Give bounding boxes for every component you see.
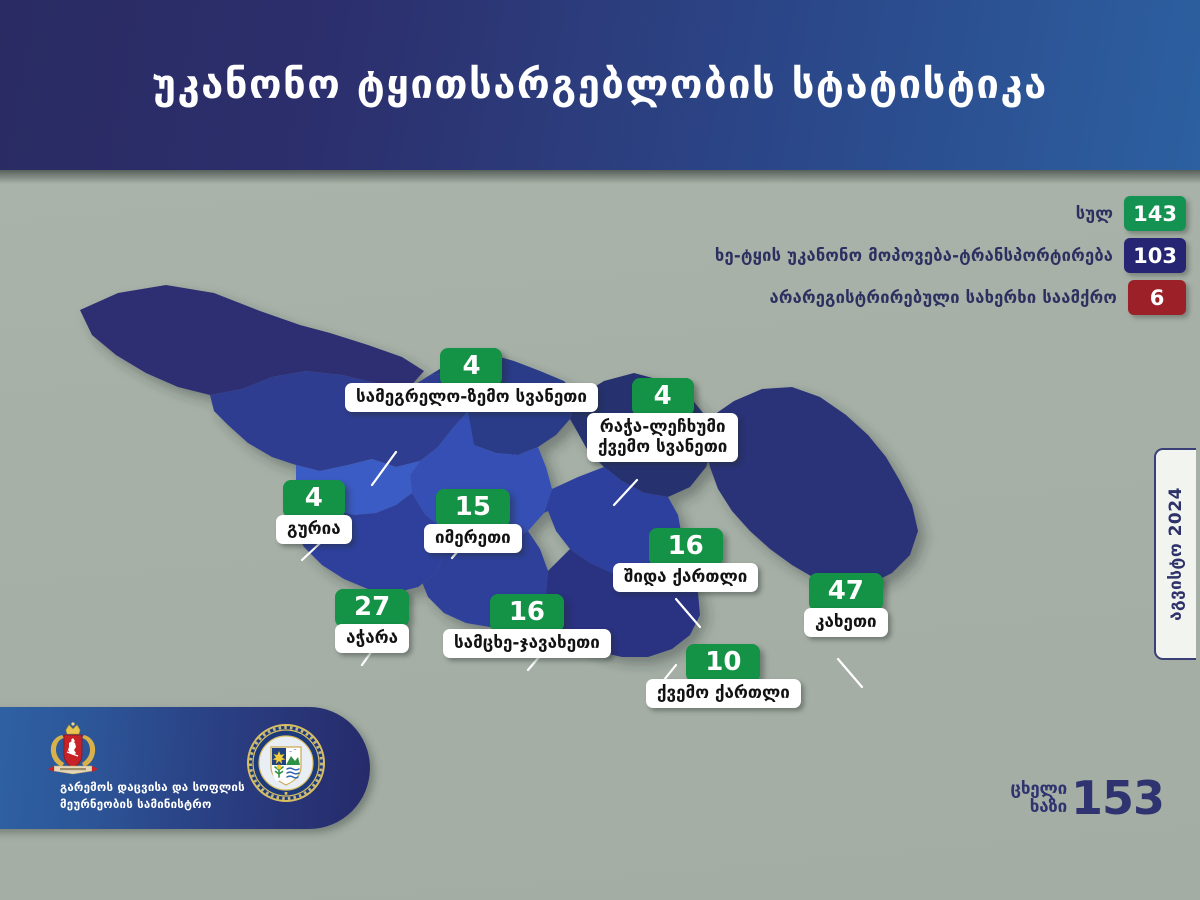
marker-guria[interactable]: 4 გურია [276, 480, 352, 544]
legend-label-unregistered-sawmill: არარეგისტრირებული სახერხი საამქრო [770, 288, 1117, 307]
leader-kakheti [838, 659, 862, 687]
header-banner: უკანონო ტყითსარგებლობის სტატისტიკა [0, 0, 1200, 170]
marker-count-samegrelo: 4 [440, 348, 502, 386]
marker-count-kvemo-kartli: 10 [686, 644, 760, 682]
marker-count-guria: 4 [283, 480, 345, 518]
legend-row-illegal-logging: ხე-ტყის უკანონო მოპოვება-ტრანსპორტირება … [715, 238, 1186, 273]
legend-badge-unregistered-sawmill: 6 [1128, 280, 1186, 315]
marker-label-imereti: იმერეთი [424, 524, 522, 553]
legend-badge-total: 143 [1124, 196, 1186, 231]
marker-samegrelo-zemo-svaneti[interactable]: 4 სამეგრელო-ზემო სვანეთი [345, 348, 598, 412]
marker-label-kakheti: კახეთი [804, 608, 888, 637]
marker-kakheti[interactable]: 47 კახეთი [804, 573, 888, 637]
hotline-number: 153 [1071, 778, 1164, 819]
legend-row-unregistered-sawmill: არარეგისტრირებული სახერხი საამქრო 6 [770, 280, 1186, 315]
marker-label-adjara: აჭარა [335, 624, 409, 653]
date-tab-label: აგვისტო 2024 [1166, 487, 1186, 621]
marker-count-shida-kartli: 16 [649, 528, 723, 566]
legend-label-illegal-logging: ხე-ტყის უკანონო მოპოვება-ტრანსპორტირება [715, 246, 1113, 265]
marker-adjara[interactable]: 27 აჭარა [335, 589, 409, 653]
marker-shida-kartli[interactable]: 16 შიდა ქართლი [613, 528, 758, 592]
georgia-coat-of-arms-icon [42, 722, 104, 780]
hotline-label: ცხელი ხაზი [1010, 781, 1067, 817]
marker-label-kvemo-kartli: ქვემო ქართლი [646, 679, 801, 708]
marker-count-kakheti: 47 [809, 573, 883, 611]
marker-label-samegrelo: სამეგრელო-ზემო სვანეთი [345, 383, 598, 412]
marker-count-samtskhe: 16 [490, 594, 564, 632]
marker-label-guria: გურია [276, 515, 352, 544]
marker-count-racha: 4 [632, 378, 694, 416]
marker-imereti[interactable]: 15 იმერეთი [424, 489, 522, 553]
marker-count-imereti: 15 [436, 489, 510, 527]
marker-count-adjara: 27 [335, 589, 409, 627]
page-title: უკანონო ტყითსარგებლობის სტატისტიკა [152, 62, 1048, 108]
legend-label-total: სულ [1076, 204, 1113, 223]
marker-racha-lechkhumi[interactable]: 4 რაჭა-ლეჩხუმი ქვემო სვანეთი [587, 378, 738, 462]
marker-label-samtskhe: სამცხე-ჯავახეთი [443, 629, 611, 658]
infographic-canvas: უკანონო ტყითსარგებლობის სტატისტიკა სულ 1… [0, 0, 1200, 900]
marker-samtskhe-javakheti[interactable]: 16 სამცხე-ჯავახეთი [443, 594, 611, 658]
ministry-seal-icon [246, 723, 326, 807]
marker-label-racha: რაჭა-ლეჩხუმი ქვემო სვანეთი [587, 413, 738, 462]
ministry-name: გარემოს დაცვისა და სოფლის მეურნეობის სამ… [60, 779, 245, 812]
legend-badge-illegal-logging: 103 [1124, 238, 1186, 273]
hotline: ცხელი ხაზი 153 [1010, 778, 1164, 819]
marker-kvemo-kartli[interactable]: 10 ქვემო ქართლი [646, 644, 801, 708]
date-tab: აგვისტო 2024 [1154, 448, 1196, 660]
legend-row-total: სულ 143 [1076, 196, 1186, 231]
legend: სულ 143 ხე-ტყის უკანონო მოპოვება-ტრანსპო… [715, 196, 1186, 315]
marker-label-shida-kartli: შიდა ქართლი [613, 563, 758, 592]
